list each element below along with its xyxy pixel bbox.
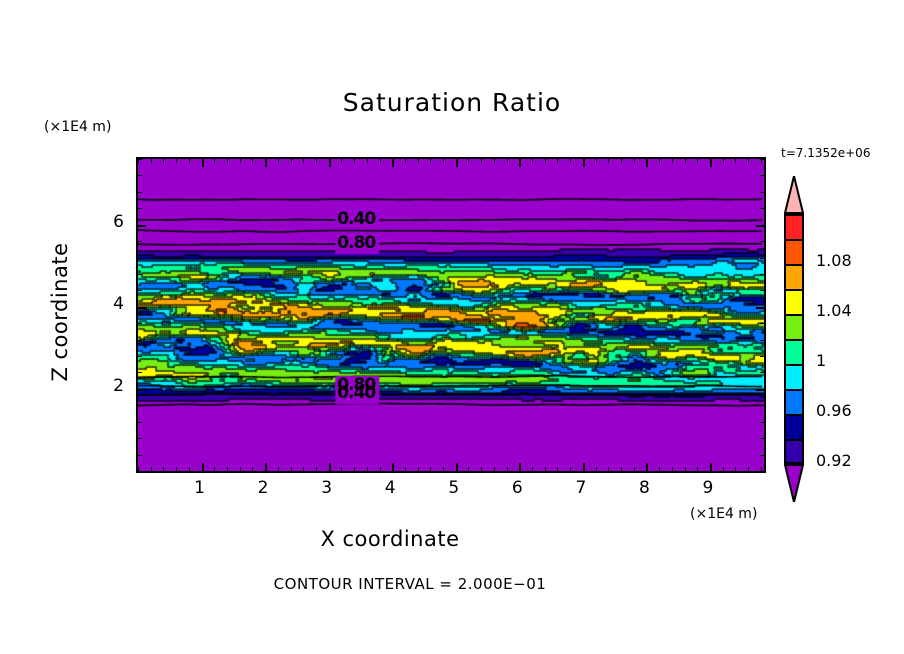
x-axis-minor-tick [367,467,368,471]
x-axis-major-tick [456,159,458,167]
y-axis-major-tick [756,307,764,309]
y-axis-minor-tick [760,405,764,406]
y-axis-minor-tick [760,192,764,193]
colorbar-band [784,414,804,439]
x-axis-minor-tick [735,467,736,471]
contour-interval-caption: CONTOUR INTERVAL = 2.000E−01 [0,575,820,593]
colorbar-band [784,439,804,464]
colorbar-bottom-cap [784,464,804,502]
y-axis-units-label: (×1E4 m) [44,119,111,135]
x-axis-tick-label: 2 [243,478,283,498]
colorbar [784,214,804,464]
x-axis-minor-tick [163,159,164,163]
y-axis-minor-tick [760,340,764,341]
x-axis-minor-tick [507,159,508,163]
x-axis-minor-tick [214,467,215,471]
x-axis-major-tick [710,463,712,471]
x-axis-minor-tick [227,467,228,471]
x-axis-tick-label: 8 [624,478,664,498]
x-axis-major-tick [519,463,521,471]
y-axis-tick-label: 2 [94,376,124,396]
x-axis-minor-tick [252,159,253,163]
x-axis-minor-tick [189,159,190,163]
x-axis-minor-tick [557,467,558,471]
x-axis-major-tick [583,463,585,471]
x-axis-minor-tick [608,159,609,163]
y-axis-minor-tick [138,471,142,472]
x-axis-tick-label: 1 [180,478,220,498]
x-axis-minor-tick [176,467,177,471]
x-axis-major-tick [456,463,458,471]
y-axis-minor-tick [760,422,764,423]
x-axis-tick-label: 5 [434,478,474,498]
x-axis-minor-tick [468,467,469,471]
x-axis-minor-tick [341,467,342,471]
x-axis-minor-tick [532,159,533,163]
y-axis-minor-tick [138,340,142,341]
x-axis-minor-tick [634,159,635,163]
x-axis-minor-tick [672,467,673,471]
x-axis-minor-tick [151,467,152,471]
x-axis-minor-tick [570,159,571,163]
contour-line-label: 0.40 [337,209,375,229]
y-axis-minor-tick [760,241,764,242]
x-axis-tick-label: 7 [561,478,601,498]
y-axis-minor-tick [138,372,142,373]
x-axis-minor-tick [659,467,660,471]
x-axis-minor-tick [316,159,317,163]
y-axis-tick-label: 6 [94,212,124,232]
x-axis-minor-tick [443,159,444,163]
x-axis-minor-tick [430,159,431,163]
x-axis-units-label: (×1E4 m) [690,506,757,522]
x-axis-minor-tick [240,467,241,471]
y-axis-minor-tick [760,323,764,324]
plot-area: 0.400.800.800.40 [136,157,766,473]
colorbar-band [784,389,804,414]
y-axis-minor-tick [138,323,142,324]
x-axis-major-tick [329,159,331,167]
y-axis-minor-tick [138,192,142,193]
x-axis-minor-tick [176,159,177,163]
y-axis-minor-tick [760,208,764,209]
x-axis-minor-tick [252,467,253,471]
y-axis-minor-tick [138,274,142,275]
x-axis-minor-tick [545,159,546,163]
y-axis-minor-tick [138,258,142,259]
saturation-ratio-contour-plot: Saturation Ratio (×1E4 m) t=7.1352e+06 0… [0,0,904,654]
x-axis-major-tick [265,463,267,471]
colorbar-band [784,239,804,264]
x-axis-minor-tick [634,467,635,471]
x-axis-tick-label: 6 [497,478,537,498]
x-axis-major-tick [646,159,648,167]
colorbar-band [784,339,804,364]
x-axis-minor-tick [354,467,355,471]
x-axis-minor-tick [494,159,495,163]
x-axis-minor-tick [748,467,749,471]
x-axis-tick-label: 4 [370,478,410,498]
x-axis-minor-tick [608,467,609,471]
y-axis-minor-tick [760,274,764,275]
colorbar-band [784,214,804,239]
x-axis-tick-label: 3 [307,478,347,498]
colorbar-band [784,264,804,289]
x-axis-minor-tick [532,467,533,471]
x-axis-minor-tick [227,159,228,163]
y-axis-major-tick [138,225,146,227]
x-axis-minor-tick [151,159,152,163]
y-axis-minor-tick [760,175,764,176]
x-axis-minor-tick [380,159,381,163]
y-axis-minor-tick [138,159,142,160]
x-axis-minor-tick [316,467,317,471]
x-axis-minor-tick [621,467,622,471]
x-axis-minor-tick [367,159,368,163]
x-axis-minor-tick [481,467,482,471]
x-axis-minor-tick [545,467,546,471]
y-axis-minor-tick [138,405,142,406]
contour-line-label: 0.80 [337,233,375,253]
y-axis-minor-tick [760,258,764,259]
y-axis-minor-tick [138,290,142,291]
y-axis-minor-tick [138,455,142,456]
y-axis-minor-tick [760,372,764,373]
x-axis-minor-tick [430,467,431,471]
x-axis-minor-tick [621,159,622,163]
x-axis-minor-tick [405,467,406,471]
x-axis-minor-tick [748,159,749,163]
x-axis-minor-tick [380,467,381,471]
x-axis-minor-tick [481,159,482,163]
x-axis-minor-tick [303,467,304,471]
y-axis-minor-tick [760,356,764,357]
x-axis-minor-tick [240,159,241,163]
x-axis-major-tick [646,463,648,471]
x-axis-minor-tick [214,159,215,163]
y-axis-minor-tick [760,471,764,472]
y-axis-minor-tick [138,208,142,209]
x-axis-minor-tick [723,467,724,471]
x-axis-minor-tick [405,159,406,163]
x-axis-major-tick [265,159,267,167]
x-axis-minor-tick [685,467,686,471]
y-axis-minor-tick [138,175,142,176]
x-axis-minor-tick [291,159,292,163]
x-axis-major-tick [329,463,331,471]
contour-field-canvas [138,159,764,471]
x-axis-minor-tick [278,467,279,471]
y-axis-minor-tick [138,422,142,423]
x-axis-major-tick [202,159,204,167]
x-axis-tick-label: 9 [688,478,728,498]
x-axis-minor-tick [697,159,698,163]
y-axis-minor-tick [138,356,142,357]
colorbar-tick-label: 1.04 [816,301,852,320]
y-axis-major-tick [756,225,764,227]
colorbar-band [784,364,804,389]
x-axis-minor-tick [723,159,724,163]
x-axis-minor-tick [685,159,686,163]
x-axis-major-tick [710,159,712,167]
y-axis-minor-tick [760,159,764,160]
x-axis-minor-tick [468,159,469,163]
colorbar-tick-label: 1 [816,351,826,370]
x-axis-minor-tick [557,159,558,163]
colorbar-tick-label: 0.92 [816,451,852,470]
x-axis-minor-tick [507,467,508,471]
time-annotation: t=7.1352e+06 [781,146,870,160]
x-axis-minor-tick [443,467,444,471]
y-axis-minor-tick [138,241,142,242]
colorbar-tick-label: 1.08 [816,251,852,270]
colorbar-band [784,314,804,339]
x-axis-minor-tick [735,159,736,163]
y-axis-minor-tick [760,455,764,456]
y-axis-minor-tick [760,438,764,439]
page-title: Saturation Ratio [0,88,904,117]
x-axis-minor-tick [418,467,419,471]
x-axis-minor-tick [354,159,355,163]
x-axis-major-tick [392,159,394,167]
x-axis-minor-tick [163,467,164,471]
x-axis-major-tick [392,463,394,471]
x-axis-minor-tick [570,467,571,471]
x-axis-minor-tick [596,159,597,163]
x-axis-minor-tick [341,159,342,163]
x-axis-minor-tick [697,467,698,471]
x-axis-title: X coordinate [0,527,780,551]
x-axis-minor-tick [672,159,673,163]
colorbar-band [784,289,804,314]
contour-line-label: 0.40 [337,383,375,403]
x-axis-minor-tick [494,467,495,471]
y-axis-minor-tick [760,290,764,291]
colorbar-top-cap [784,176,804,214]
x-axis-minor-tick [291,467,292,471]
y-axis-minor-tick [138,438,142,439]
y-axis-major-tick [756,389,764,391]
y-axis-title: Z coordinate [48,212,72,412]
x-axis-minor-tick [303,159,304,163]
x-axis-minor-tick [278,159,279,163]
x-axis-minor-tick [418,159,419,163]
x-axis-minor-tick [659,159,660,163]
y-axis-tick-label: 4 [94,294,124,314]
y-axis-major-tick [138,307,146,309]
x-axis-major-tick [519,159,521,167]
colorbar-tick-label: 0.96 [816,401,852,420]
x-axis-minor-tick [596,467,597,471]
x-axis-major-tick [583,159,585,167]
x-axis-major-tick [202,463,204,471]
x-axis-minor-tick [189,467,190,471]
y-axis-major-tick [138,389,146,391]
